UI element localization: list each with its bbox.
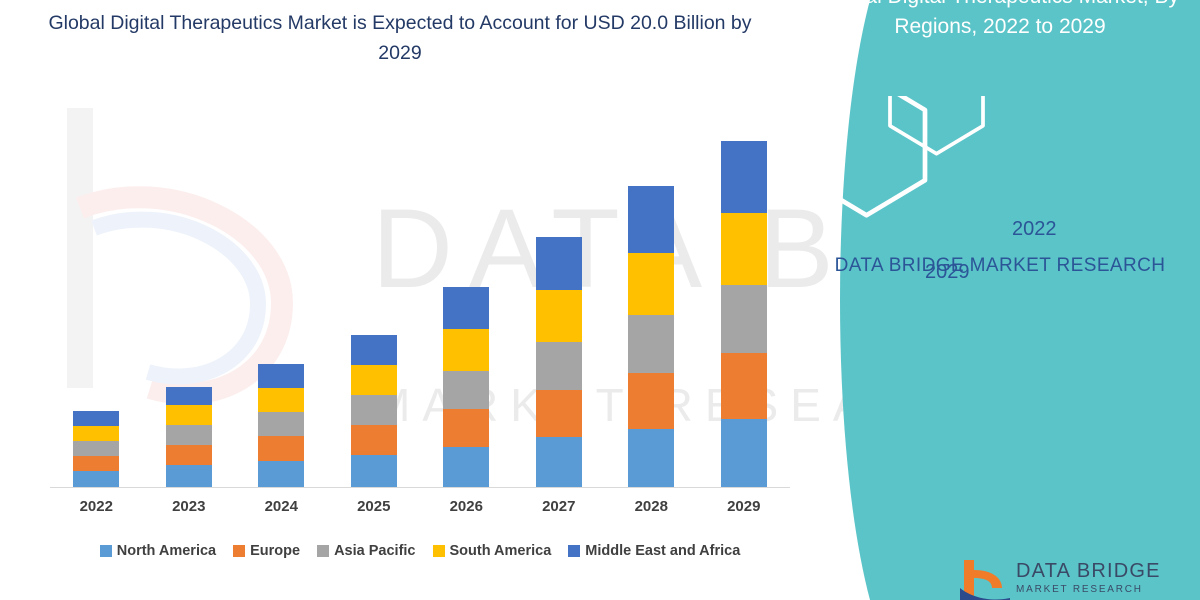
- hexagon-2022: [890, 96, 983, 154]
- bar-segment-2029-south-america[interactable]: [721, 213, 767, 285]
- bar-segment-2023-asia-pacific[interactable]: [166, 425, 212, 445]
- x-axis-label-2028: 2028: [606, 498, 696, 515]
- plot-area: [50, 110, 790, 488]
- data-bridge-logo-icon: [958, 558, 1014, 600]
- x-axis-labels: 20222023202420252026202720282029: [50, 498, 790, 522]
- bar-2024[interactable]: [258, 364, 304, 487]
- bar-segment-2023-europe[interactable]: [166, 445, 212, 465]
- bar-segment-2029-middle-east-and-africa[interactable]: [721, 141, 767, 213]
- bar-segment-2026-middle-east-and-africa[interactable]: [443, 287, 489, 329]
- chart-panel: DATA BRIDGE MARKET RESEARCH Global Digit…: [0, 0, 860, 600]
- bar-2029[interactable]: [721, 141, 767, 487]
- chart-title: Global Digital Therapeutics Market is Ex…: [30, 8, 770, 68]
- bar-segment-2022-south-america[interactable]: [73, 426, 119, 441]
- bar-segment-2024-europe[interactable]: [258, 436, 304, 461]
- legend-label: North America: [117, 543, 216, 559]
- x-axis-label-2026: 2026: [421, 498, 511, 515]
- legend-swatch-icon: [233, 545, 245, 557]
- bar-segment-2028-asia-pacific[interactable]: [628, 315, 674, 373]
- company-logo: DATA BRIDGE MARKET RESEARCH: [958, 558, 1198, 600]
- legend-item-north-america[interactable]: North America: [100, 543, 216, 559]
- bar-segment-2026-europe[interactable]: [443, 409, 489, 447]
- legend-label: Middle East and Africa: [585, 543, 740, 559]
- bar-segment-2026-north-america[interactable]: [443, 447, 489, 487]
- bar-segment-2022-north-america[interactable]: [73, 471, 119, 487]
- bar-segment-2028-south-america[interactable]: [628, 253, 674, 315]
- legend-swatch-icon: [433, 545, 445, 557]
- bar-segment-2028-north-america[interactable]: [628, 429, 674, 487]
- bar-2023[interactable]: [166, 387, 212, 487]
- legend-label: Asia Pacific: [334, 543, 415, 559]
- bar-segment-2027-asia-pacific[interactable]: [536, 342, 582, 390]
- bar-segment-2026-south-america[interactable]: [443, 329, 489, 371]
- bar-segment-2028-middle-east-and-africa[interactable]: [628, 186, 674, 253]
- bar-segment-2027-south-america[interactable]: [536, 290, 582, 342]
- bar-2026[interactable]: [443, 287, 489, 487]
- bar-segment-2027-middle-east-and-africa[interactable]: [536, 237, 582, 290]
- legend-item-middle-east-and-africa[interactable]: Middle East and Africa: [568, 543, 740, 559]
- bar-segment-2022-middle-east-and-africa[interactable]: [73, 411, 119, 426]
- legend-swatch-icon: [317, 545, 329, 557]
- bar-segment-2026-asia-pacific[interactable]: [443, 371, 489, 409]
- bar-2022[interactable]: [73, 411, 119, 487]
- x-axis-label-2024: 2024: [236, 498, 326, 515]
- hexagon-2022-label: 2022: [1012, 218, 1057, 241]
- legend-label: Europe: [250, 543, 300, 559]
- x-axis-label-2022: 2022: [51, 498, 141, 515]
- bar-segment-2025-europe[interactable]: [351, 425, 397, 455]
- x-axis-label-2023: 2023: [144, 498, 234, 515]
- legend-swatch-icon: [568, 545, 580, 557]
- logo-subtitle: MARKET RESEARCH: [1016, 584, 1143, 595]
- bar-2025[interactable]: [351, 335, 397, 487]
- bar-segment-2024-asia-pacific[interactable]: [258, 412, 304, 436]
- legend-item-asia-pacific[interactable]: Asia Pacific: [317, 543, 415, 559]
- bar-2027[interactable]: [536, 237, 582, 487]
- bar-segment-2022-europe[interactable]: [73, 456, 119, 471]
- legend-swatch-icon: [100, 545, 112, 557]
- bar-2028[interactable]: [628, 186, 674, 487]
- x-axis-label-2027: 2027: [514, 498, 604, 515]
- hexagon-year-group: 2022 2029: [830, 96, 1170, 226]
- bar-segment-2023-north-america[interactable]: [166, 465, 212, 487]
- legend-item-europe[interactable]: Europe: [233, 543, 300, 559]
- hexagons-graphic: [830, 96, 1170, 226]
- bar-segment-2024-south-america[interactable]: [258, 388, 304, 412]
- x-axis-line: [50, 487, 790, 488]
- legend-item-south-america[interactable]: South America: [433, 543, 552, 559]
- bar-segment-2024-north-america[interactable]: [258, 461, 304, 487]
- x-axis-label-2029: 2029: [699, 498, 789, 515]
- bar-segment-2028-europe[interactable]: [628, 373, 674, 429]
- bar-segment-2025-asia-pacific[interactable]: [351, 395, 397, 425]
- x-axis-label-2025: 2025: [329, 498, 419, 515]
- bar-segment-2029-north-america[interactable]: [721, 419, 767, 487]
- branding-panel: Global Digital Therapeutics Market, By R…: [800, 0, 1200, 600]
- bar-segment-2029-europe[interactable]: [721, 353, 767, 419]
- legend-label: South America: [450, 543, 552, 559]
- hexagon-2029: [830, 96, 925, 215]
- bar-segment-2025-middle-east-and-africa[interactable]: [351, 335, 397, 365]
- bar-segment-2025-south-america[interactable]: [351, 365, 397, 395]
- bar-segment-2023-middle-east-and-africa[interactable]: [166, 387, 212, 405]
- bar-segment-2025-north-america[interactable]: [351, 455, 397, 487]
- bar-segment-2029-asia-pacific[interactable]: [721, 285, 767, 353]
- bar-segment-2023-south-america[interactable]: [166, 405, 212, 425]
- chart-legend: North AmericaEuropeAsia PacificSouth Ame…: [50, 538, 790, 564]
- bar-segment-2022-asia-pacific[interactable]: [73, 441, 119, 456]
- panel-title: Global Digital Therapeutics Market, By R…: [820, 0, 1180, 42]
- bar-segment-2024-middle-east-and-africa[interactable]: [258, 364, 304, 388]
- bar-segment-2027-north-america[interactable]: [536, 437, 582, 487]
- logo-wordmark: DATA BRIDGE: [1016, 560, 1161, 583]
- brand-name: DATA BRIDGE MARKET RESEARCH: [820, 252, 1180, 280]
- bar-segment-2027-europe[interactable]: [536, 390, 582, 437]
